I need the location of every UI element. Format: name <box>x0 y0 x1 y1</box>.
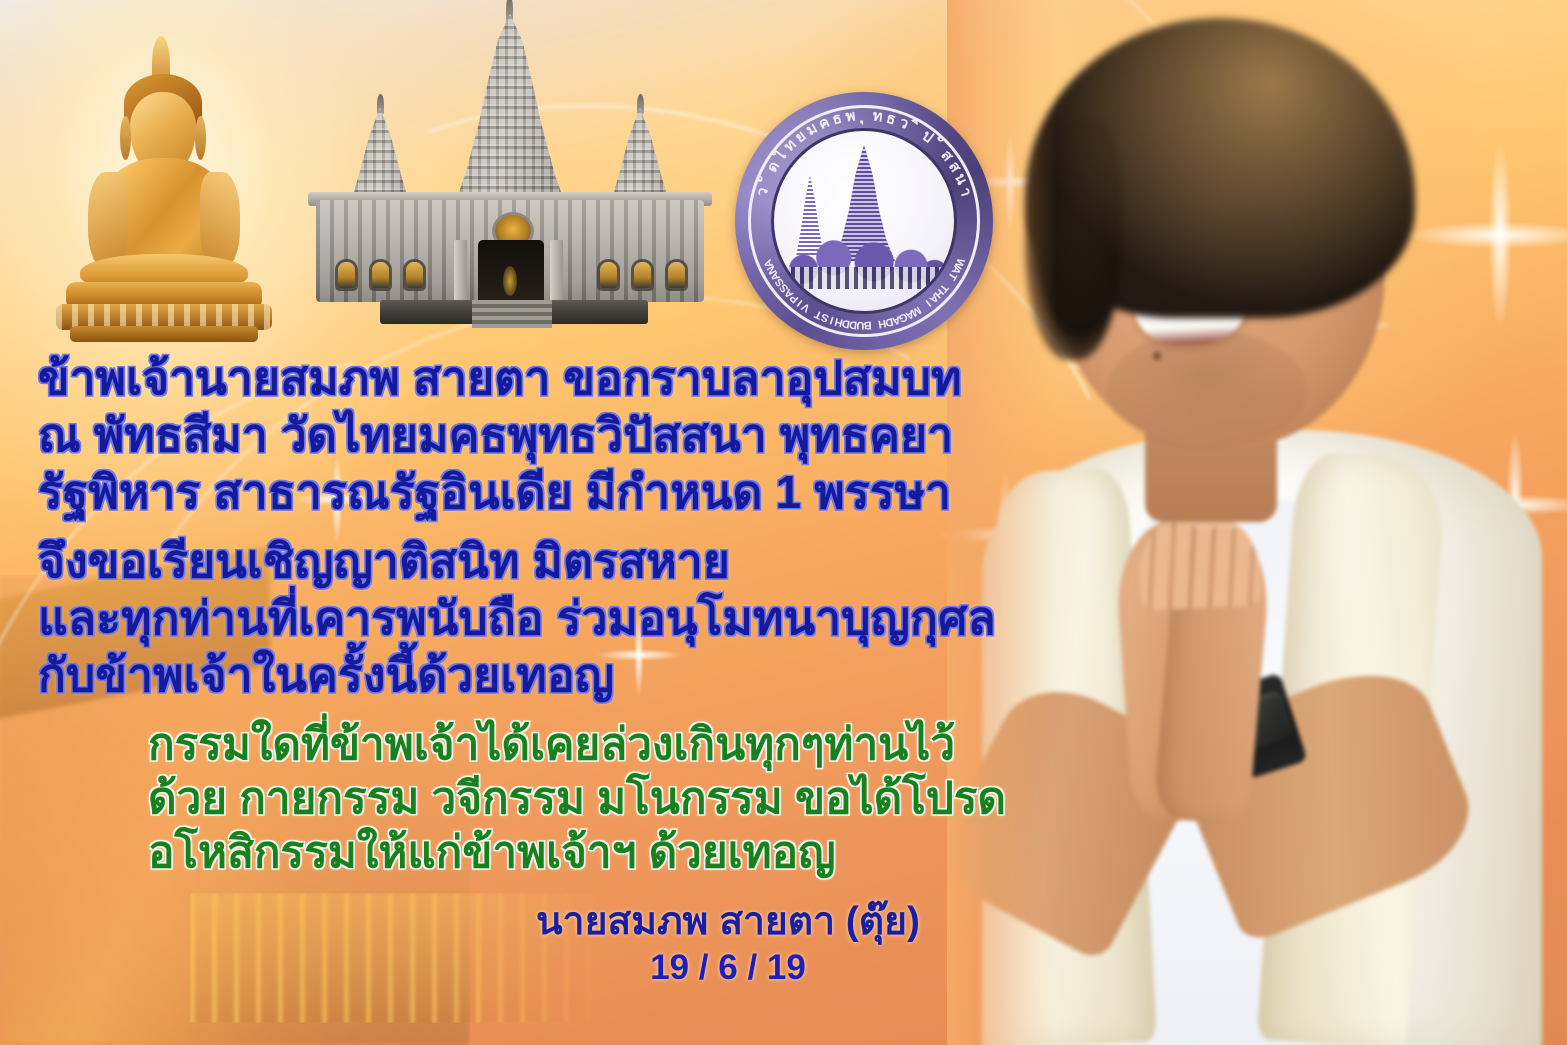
announcement-line: ข้าพเจ้านายสมภพ สายตา ขอกราบลาอุปสมบท <box>38 350 1038 407</box>
forgiveness-line: อโหสิกรรมให้แก่ข้าพเจ้าฯ ด้วยเทอญ <box>148 826 1088 880</box>
signature-block: นายสมภพ สายตา (ตุ๊ย) 19 / 6 / 19 <box>448 898 1008 990</box>
forgiveness-line: ด้วย กายกรรม วจีกรรม มโนกรรม ขอได้โปรด <box>148 772 1088 826</box>
invitation-line: กับข้าพเจ้าในครั้งนี้ด้วยเทอญ <box>38 647 1038 704</box>
signature-name: นายสมภพ สายตา (ตุ๊ย) <box>448 898 1008 946</box>
invitation-line: จึงขอเรียนเชิญญาติสนิท มิตรสหาย <box>38 533 1038 590</box>
announcement-line: ณ พัทธสีมา วัดไทยมคธพุทธวิปัสสนา พุทธคยา <box>38 407 1038 464</box>
signature-date: 19 / 6 / 19 <box>448 946 1008 990</box>
announcement-line: รัฐพิหาร สาธารณรัฐอินเดีย มีกำหนด 1 พรรษ… <box>38 464 1038 521</box>
announcement-blue-text-block: ข้าพเจ้านายสมภพ สายตา ขอกราบลาอุปสมบท ณ … <box>38 350 1038 704</box>
invitation-line: และทุกท่านที่เคารพนับถือ ร่วมอนุโมทนาบุญ… <box>38 590 1038 647</box>
forgiveness-green-text-block: กรรมใดที่ข้าพเจ้าได้เคยล่วงเกินทุกๆท่านไ… <box>148 718 1088 880</box>
forgiveness-line: กรรมใดที่ข้าพเจ้าได้เคยล่วงเกินทุกๆท่านไ… <box>148 718 1088 772</box>
ordination-invitation-poster: วัดไทยมคธพุทธวิปัสสนา WAT THAI MAGADH BU… <box>0 0 1567 1045</box>
text-layer: ข้าพเจ้านายสมภพ สายตา ขอกราบลาอุปสมบท ณ … <box>0 0 1567 1045</box>
